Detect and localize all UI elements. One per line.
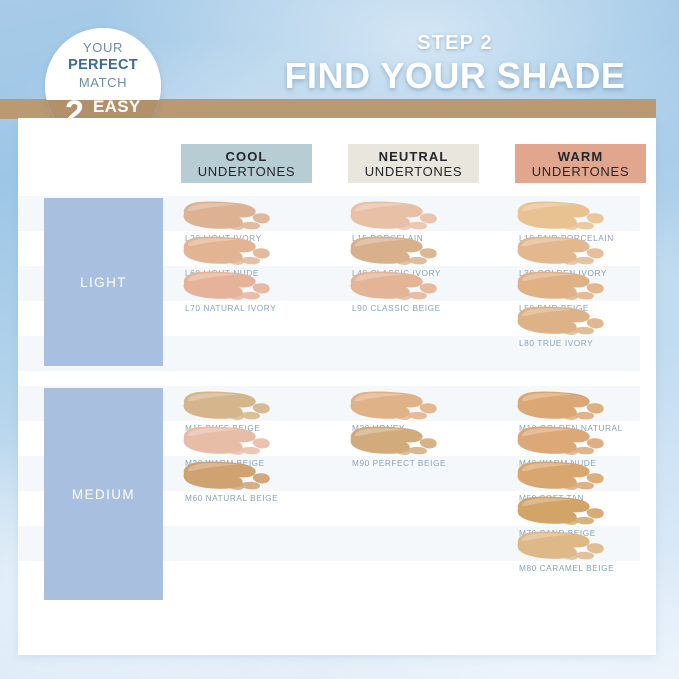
shade-chart-card: COOL UNDERTONES NEUTRAL UNDERTONES WARM … [18, 118, 656, 655]
shade-swatch-smear [348, 390, 444, 423]
shade-swatch-smear [515, 305, 611, 338]
shade-swatch-smear [515, 530, 611, 563]
shade-swatch-smear [515, 390, 611, 423]
shade-swatch-smear [181, 200, 277, 233]
shade-label: M60 NATURAL BEIGE [181, 493, 335, 503]
group-label-text: MEDIUM [72, 487, 135, 502]
shade-swatch-smear [181, 270, 277, 303]
shade-swatch-smear [181, 235, 277, 268]
column-header-warm: WARM UNDERTONES [515, 144, 646, 183]
shade-label: L90 CLASSIC BEIGE [348, 303, 502, 313]
shade-swatch-smear [515, 425, 611, 458]
column-header-warm-name: WARM [558, 149, 604, 164]
shade-cell[interactable]: M60 NATURAL BEIGE [181, 460, 331, 506]
shade-cell[interactable]: L70 NATURAL IVORY [181, 270, 331, 316]
column-header-cool: COOL UNDERTONES [181, 144, 312, 183]
page-title: FIND YOUR SHADE [250, 55, 660, 97]
shade-swatch-smear [515, 270, 611, 303]
step-label: STEP 2 [290, 32, 620, 55]
shade-swatch-smear [348, 235, 444, 268]
shade-label: L70 NATURAL IVORY [181, 303, 335, 313]
shade-swatch-smear [515, 495, 611, 528]
shade-label: M90 PERFECT BEIGE [348, 458, 502, 468]
shade-cell[interactable]: M90 PERFECT BEIGE [348, 425, 498, 471]
shade-swatch-smear [515, 235, 611, 268]
column-header-cool-name: COOL [226, 149, 268, 164]
shade-label: M80 CARAMEL BEIGE [515, 563, 669, 573]
shade-cell[interactable]: M80 CARAMEL BEIGE [515, 530, 665, 576]
group-label-medium: MEDIUM [44, 388, 163, 600]
shade-label: L80 TRUE IVORY [515, 338, 669, 348]
shade-swatch-smear [181, 390, 277, 423]
column-header-neutral-sub: UNDERTONES [365, 164, 463, 179]
column-header-cool-sub: UNDERTONES [198, 164, 296, 179]
shade-swatch-smear [515, 460, 611, 493]
badge-line-your: YOUR [45, 40, 161, 55]
column-header-warm-sub: UNDERTONES [532, 164, 630, 179]
shade-swatch-smear [515, 200, 611, 233]
shade-swatch-smear [348, 200, 444, 233]
shade-swatch-smear [348, 425, 444, 458]
shade-cell[interactable]: L80 TRUE IVORY [515, 305, 665, 351]
group-label-light: LIGHT [44, 198, 163, 366]
shade-cell[interactable]: L90 CLASSIC BEIGE [348, 270, 498, 316]
badge-line-easy: EASY [93, 98, 141, 115]
shade-swatch-smear [181, 425, 277, 458]
group-label-text: LIGHT [80, 275, 127, 290]
shade-swatch-smear [348, 270, 444, 303]
column-header-neutral: NEUTRAL UNDERTONES [348, 144, 479, 183]
badge-line-match: MATCH [45, 75, 161, 90]
badge-line-perfect: PERFECT [45, 57, 161, 73]
shade-swatch-smear [181, 460, 277, 493]
column-header-neutral-name: NEUTRAL [379, 149, 449, 164]
